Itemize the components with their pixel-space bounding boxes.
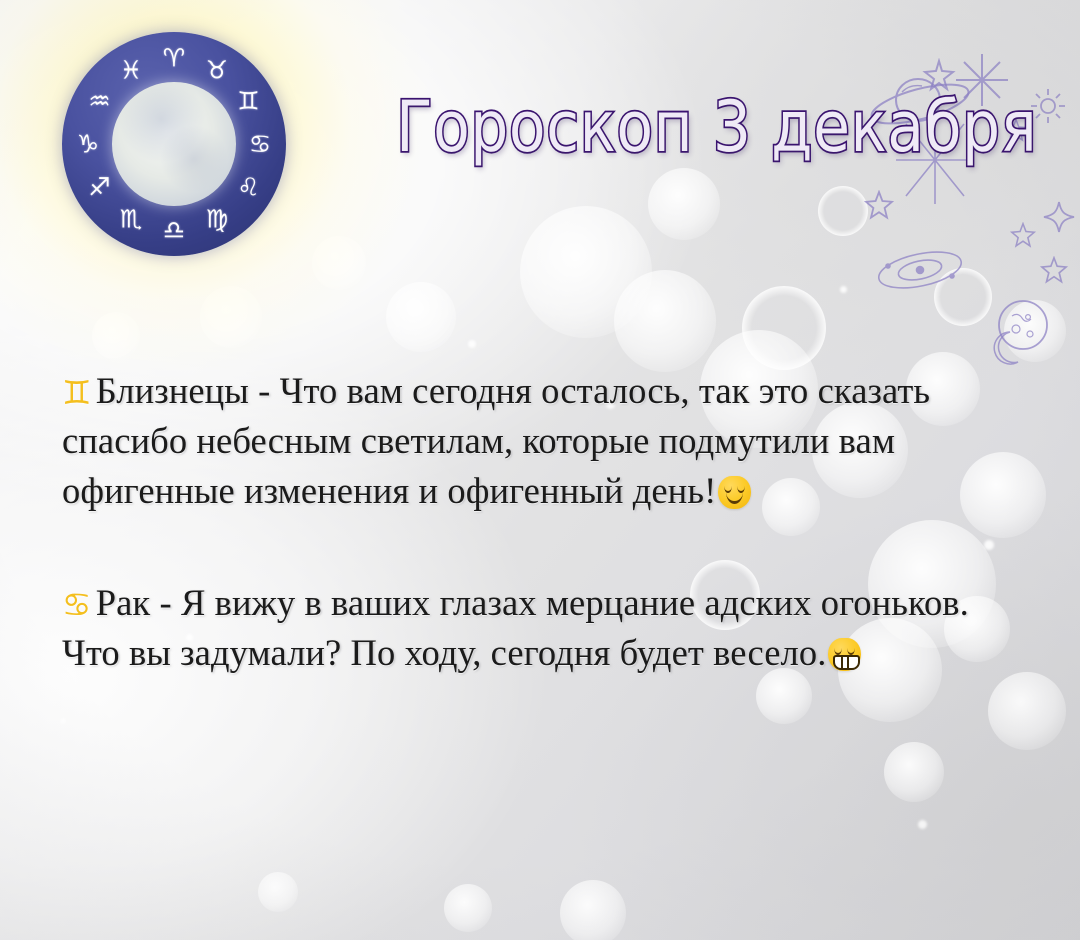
zodiac-glyph-cancer: ♋ <box>249 132 271 157</box>
zodiac-glyph-capricorn: ♑ <box>77 132 99 157</box>
horoscope-entry-text: ♊Близнецы - Что вам сегодня осталось, та… <box>62 366 1022 516</box>
zodiac-glyph-aquarius: ♒ <box>88 89 110 114</box>
grinning-face-with-smiling-eyes-icon <box>828 638 861 671</box>
horoscope-entry-gemini: ♊Близнецы - Что вам сегодня осталось, та… <box>62 366 1022 516</box>
sign-separator: - <box>150 582 181 623</box>
moon-icon <box>112 82 235 205</box>
horoscope-entry-cancer: ♋Рак - Я вижу в ваших глазах мерцание ад… <box>62 578 1022 678</box>
zodiac-glyph-scorpio: ♏ <box>120 206 142 231</box>
zodiac-glyph-aries: ♈ <box>163 46 185 71</box>
zodiac-glyph-virgo: ♍ <box>206 206 228 231</box>
gemini-symbol-icon: ♊ <box>62 373 96 412</box>
zodiac-glyph-pisces: ♓ <box>120 57 142 82</box>
horoscope-entry-text: ♋Рак - Я вижу в ваших глазах мерцание ад… <box>62 578 1022 678</box>
zodiac-glyph-gemini: ♊ <box>237 89 259 114</box>
zodiac-glyph-taurus: ♉ <box>206 57 228 82</box>
smiling-face-with-smiling-eyes-icon <box>718 476 751 509</box>
sign-label: Близнецы <box>96 370 249 411</box>
zodiac-glyph-sagittarius: ♐ <box>88 175 110 200</box>
horoscope-poster: ♈ ♉ ♊ ♋ ♌ ♍ ♎ ♏ ♐ ♑ ♒ ♓ Гороскоп 3 декаб… <box>0 0 1080 940</box>
cancer-symbol-icon: ♋ <box>62 585 96 624</box>
zodiac-glyph-leo: ♌ <box>237 175 259 200</box>
sign-label: Рак <box>96 582 151 623</box>
zodiac-glyph-libra: ♎ <box>163 218 185 243</box>
horoscope-list: ♊Близнецы - Что вам сегодня осталось, та… <box>62 366 1022 678</box>
sign-separator: - <box>249 370 280 411</box>
page-title: Гороскоп 3 декабря <box>396 86 1064 169</box>
zodiac-wheel-logo: ♈ ♉ ♊ ♋ ♌ ♍ ♎ ♏ ♐ ♑ ♒ ♓ <box>62 32 286 256</box>
